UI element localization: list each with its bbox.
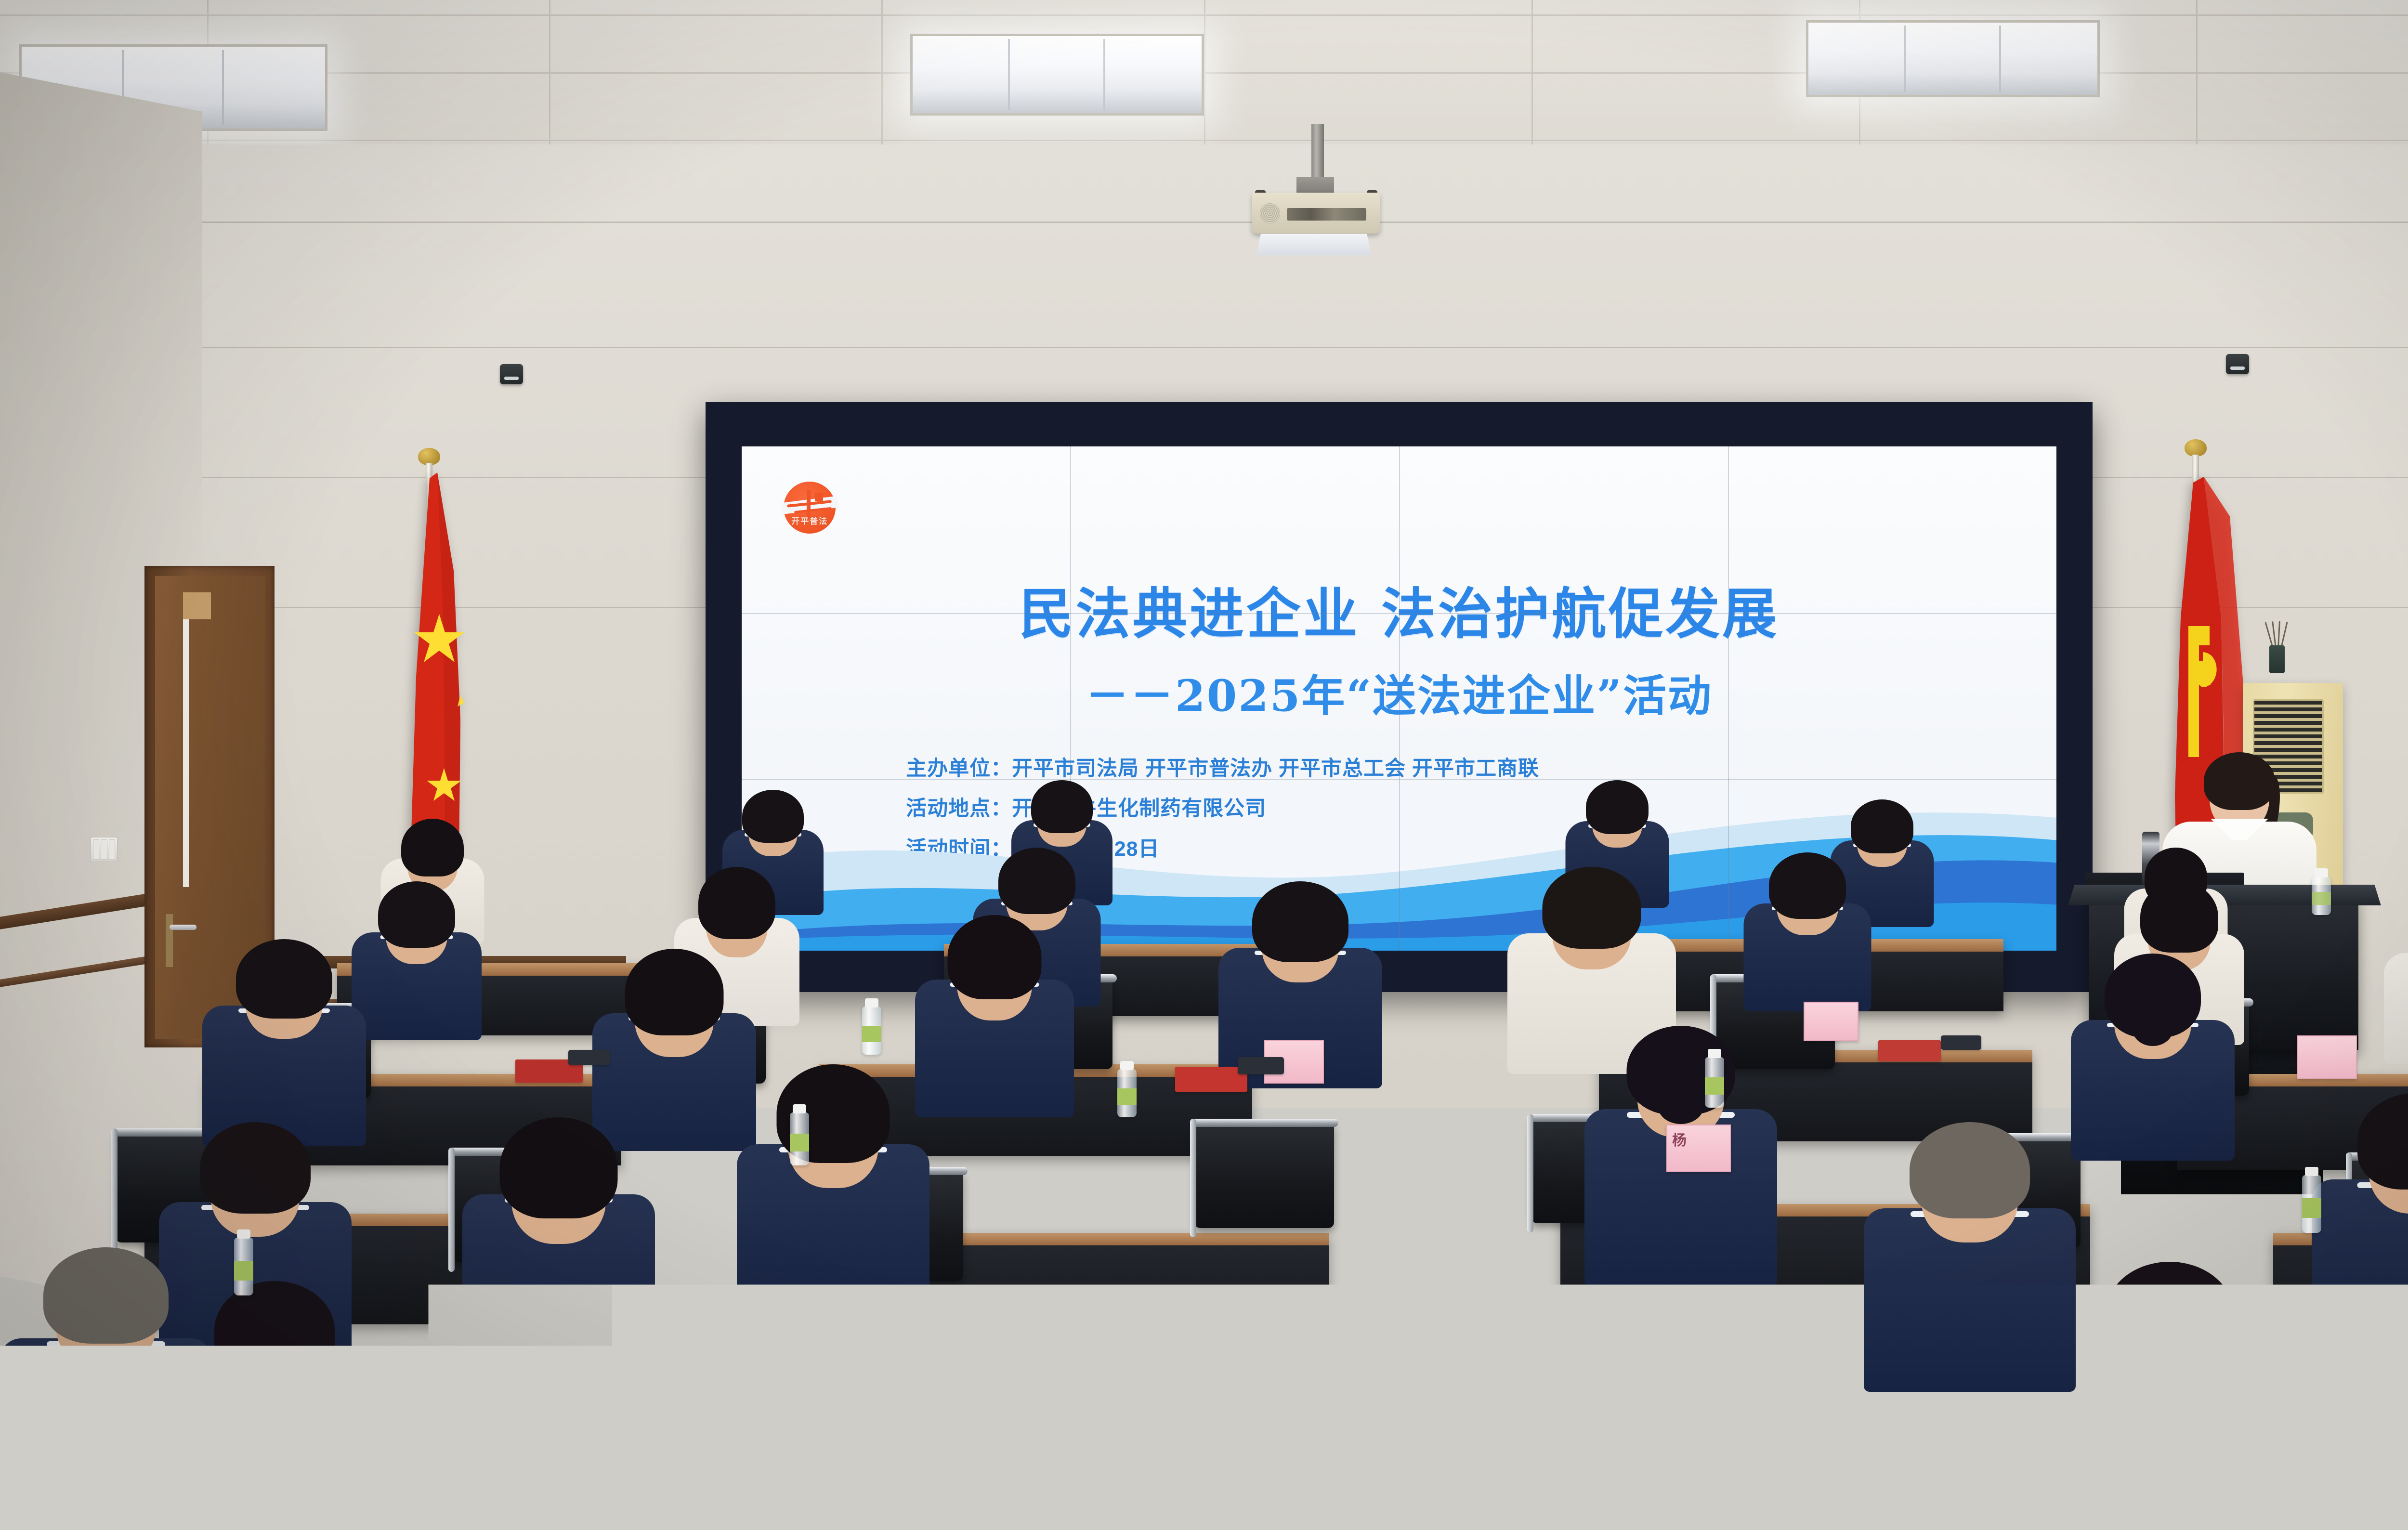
- slide-organizers: 主办单位：开平市司法局 开平市普法办 开平市总工会 开平市工商联: [906, 752, 1539, 782]
- audience-member: [352, 881, 482, 1040]
- led-tile-seam: [1399, 446, 1400, 951]
- water-bottle: [234, 1238, 253, 1295]
- smartphone: [1941, 1035, 1981, 1050]
- door-handle[interactable]: [170, 925, 196, 930]
- audience-hair: [1851, 799, 1913, 853]
- door-transom-panel: [183, 592, 211, 619]
- meeting-room-photo: 开平普法 民法典进企业 法治护航促发展 －－2025年“送法进企业”活动 主办单…: [0, 0, 2408, 1530]
- smartphone: [568, 1050, 610, 1065]
- ceiling-light: [1806, 20, 2100, 97]
- audience-member: [462, 1117, 655, 1358]
- audience-hair: [401, 819, 464, 876]
- name-placard-text: [1805, 1003, 1858, 1006]
- led-tile-seam: [1728, 446, 1729, 951]
- audience-hair: [43, 1247, 169, 1344]
- water-bottle: [1705, 1057, 1724, 1108]
- smartphone: [1238, 1057, 1284, 1074]
- water-bottle: [455, 1322, 474, 1380]
- audience-hair: [698, 867, 775, 939]
- audience-hair: [2140, 881, 2218, 953]
- ceiling-projector: [1252, 193, 1380, 234]
- water-bottle: [2312, 876, 2331, 915]
- door-lock-plate: [166, 914, 173, 967]
- led-tile-seam: [742, 613, 2056, 614]
- audience-member: [833, 1305, 1060, 1530]
- water-bottle: [2090, 1320, 2109, 1382]
- audience-member: [737, 1064, 929, 1315]
- audience-hair: [2357, 1093, 2408, 1190]
- notebook: [1175, 1067, 1247, 1092]
- projector-pole: [1311, 124, 1324, 178]
- flag-finial-left: [418, 448, 440, 465]
- audience-member: [171, 1281, 378, 1530]
- wall-speaker: [2226, 354, 2249, 374]
- flag-finial-right: [2185, 439, 2207, 457]
- chair: [1194, 1122, 1334, 1228]
- reed-diffuser-sticks: [2271, 620, 2284, 648]
- wall-speaker: [500, 364, 523, 384]
- water-bottle: [790, 1112, 809, 1165]
- audience-hair: [1910, 1122, 2030, 1218]
- audience-hair: [1586, 780, 1649, 834]
- audience-torso: [2384, 953, 2408, 1064]
- audience-member: [2384, 901, 2408, 1064]
- audience-member: [915, 915, 1074, 1117]
- audience-hair: [1543, 867, 1641, 949]
- audience-member: [1743, 852, 1871, 1011]
- audience-hair: [948, 915, 1042, 999]
- presenter-hair: [2204, 752, 2275, 810]
- kaiping-pufa-emblem-icon: 开平普法: [784, 482, 836, 534]
- audience-member: [1864, 1122, 2076, 1392]
- ceiling-light: [910, 34, 1204, 116]
- water-bottle: [2302, 1175, 2321, 1233]
- audience-hair: [214, 1281, 335, 1380]
- audience-member: [202, 939, 366, 1146]
- door-edge-gap: [183, 619, 189, 887]
- name-placard-text: [1265, 1041, 1323, 1044]
- audience-hair: [1769, 852, 1846, 919]
- audience-member: [2071, 954, 2235, 1161]
- audience-hair: [742, 790, 804, 843]
- hair-bun: [2133, 1012, 2173, 1046]
- audience-member: [2056, 1262, 2283, 1530]
- led-tile-seam: [742, 779, 2056, 780]
- water-bottle: [1117, 1069, 1137, 1117]
- audience-hair: [881, 1305, 1011, 1416]
- notebook: [1878, 1040, 1941, 1061]
- projector-ports: [1287, 208, 1366, 221]
- audience-hair: [625, 949, 724, 1035]
- name-placard: 杨: [1666, 1125, 1731, 1172]
- light-switch-plate[interactable]: [91, 837, 118, 862]
- water-bottle: [862, 1007, 881, 1055]
- audience-member: [2312, 1093, 2408, 1363]
- reed-diffuser-jar: [2269, 645, 2285, 673]
- name-placard-text: 杨: [1667, 1125, 1730, 1150]
- emblem-label: 开平普法: [784, 514, 836, 526]
- audience-hair: [1252, 881, 1348, 962]
- audience-hair: [378, 881, 455, 948]
- audience-hair: [200, 1122, 311, 1214]
- audience-hair: [2106, 1262, 2234, 1365]
- audience-hair: [998, 848, 1075, 914]
- name-placard-text: [2298, 1036, 2356, 1039]
- audience-hair: [1031, 780, 1093, 833]
- projector-paper-tag: [1256, 234, 1372, 256]
- name-placard: [2297, 1035, 2357, 1079]
- name-placard: [1804, 1002, 1858, 1041]
- hair-bun: [1658, 1088, 1704, 1124]
- audience-hair: [236, 939, 332, 1019]
- audience-hair: [500, 1117, 618, 1218]
